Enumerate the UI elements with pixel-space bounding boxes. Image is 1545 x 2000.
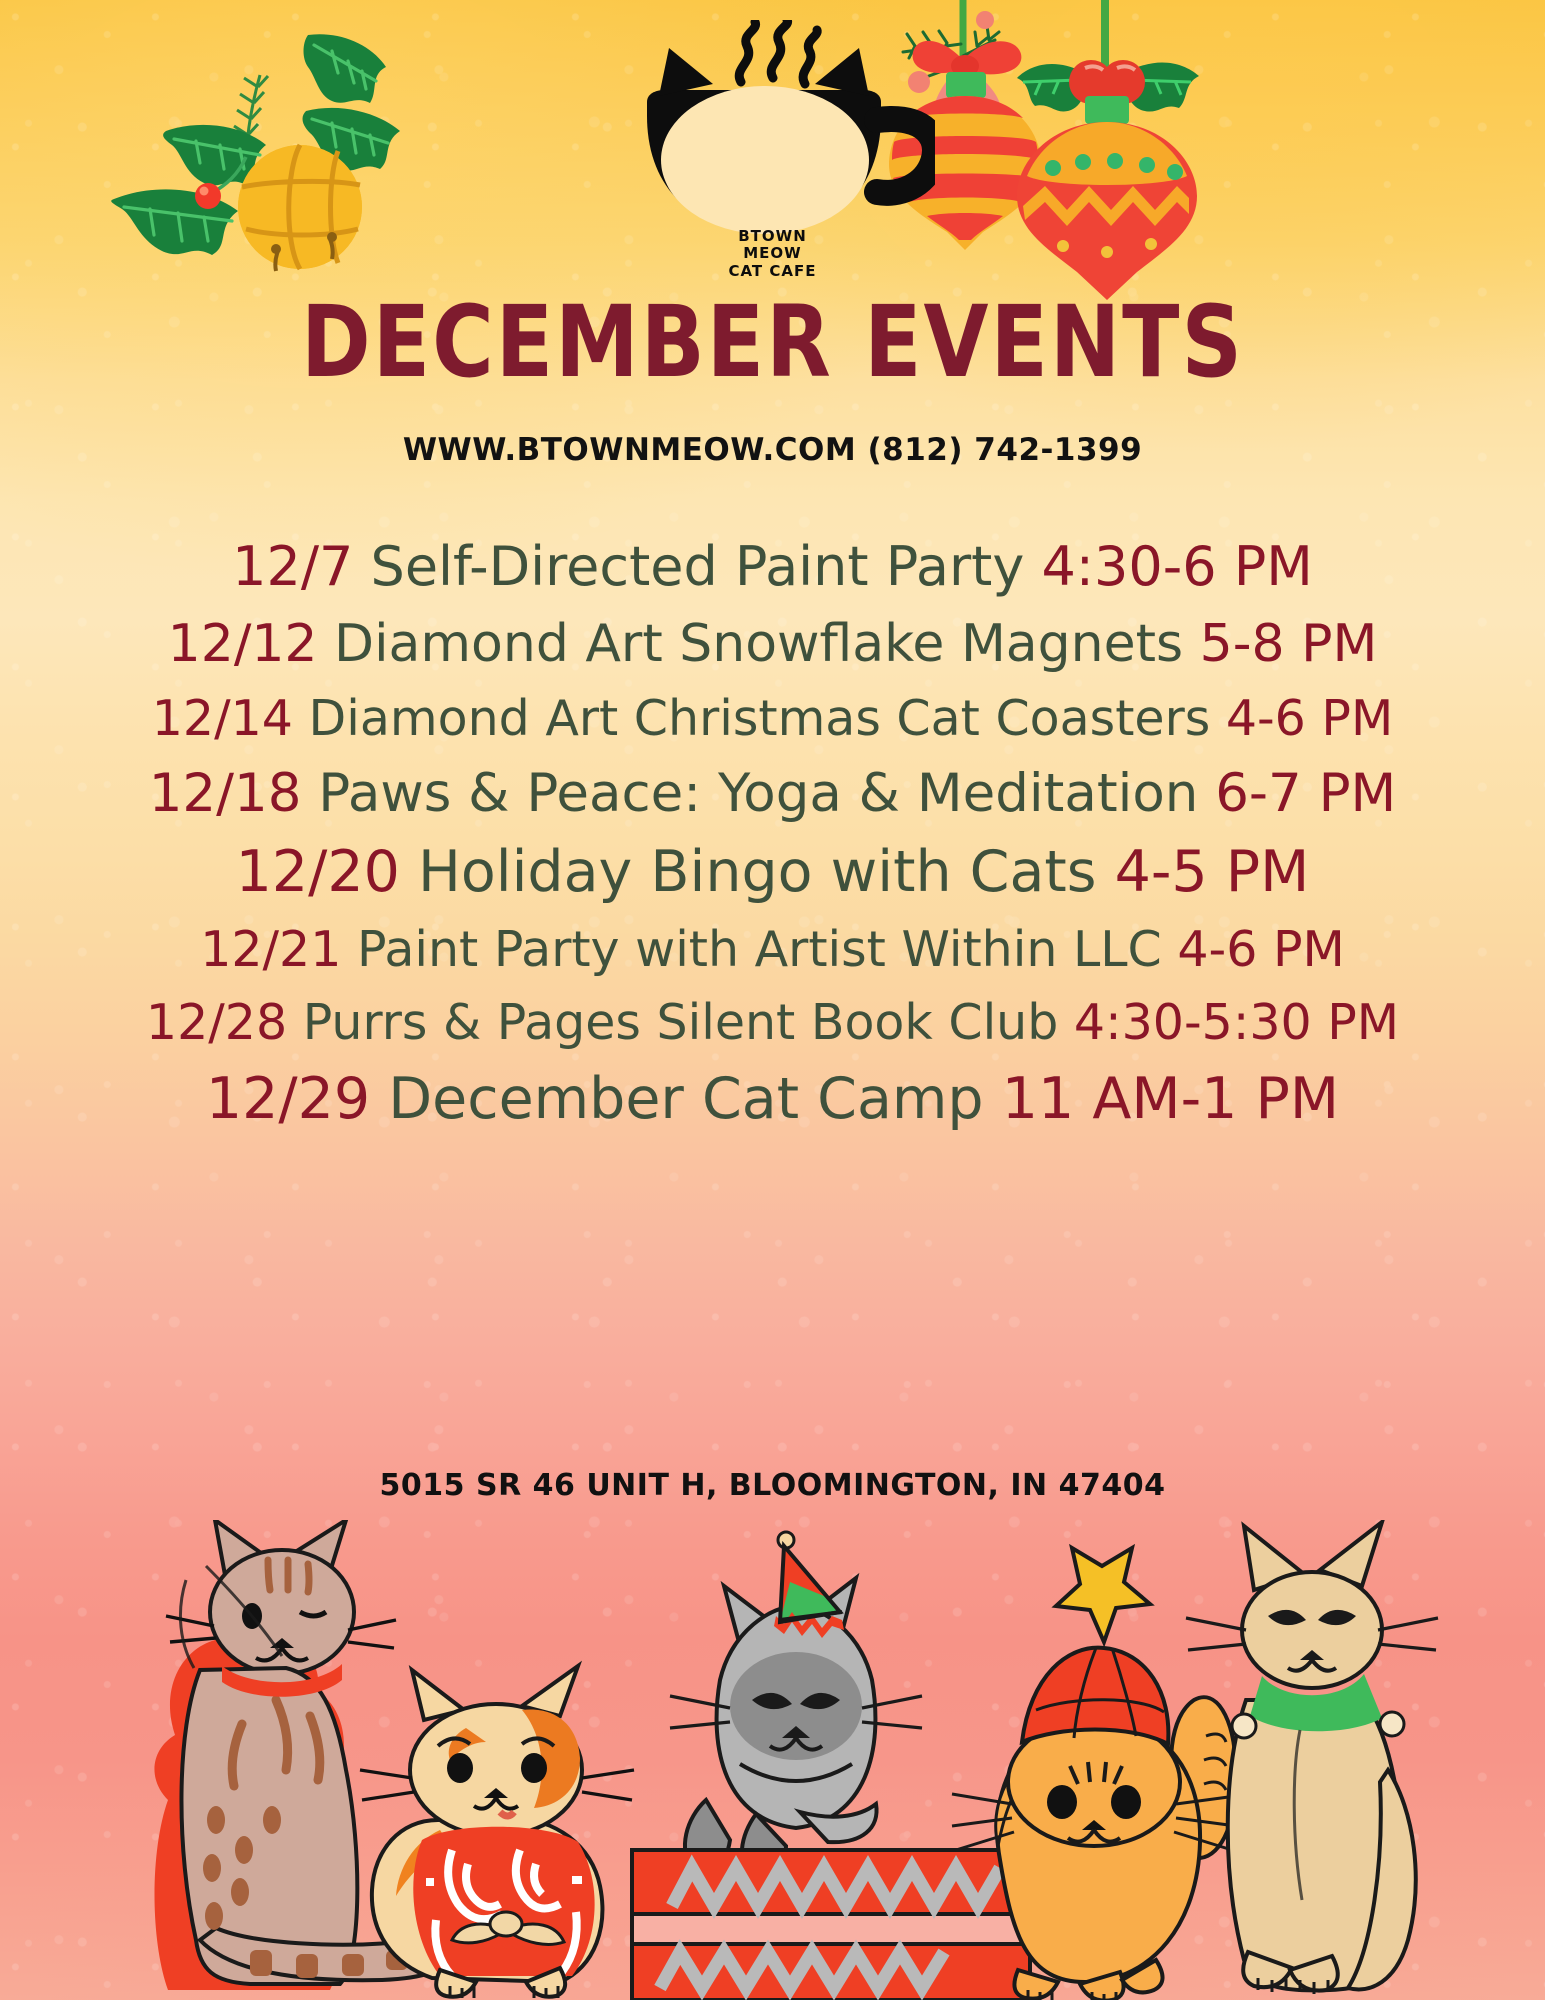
event-row: 12/12 Diamond Art Snowflake Magnets 5-8 …	[30, 618, 1515, 670]
event-name: Diamond Art Christmas Cat Coasters	[293, 690, 1226, 747]
event-date: 12/12	[168, 614, 318, 674]
event-name: Diamond Art Snowflake Magnets	[318, 614, 1200, 674]
event-date: 12/14	[152, 690, 293, 747]
holly-berry-icon	[195, 183, 221, 209]
event-time: 5-8 PM	[1200, 614, 1378, 674]
event-row: 12/7 Self-Directed Paint Party 4:30-6 PM	[30, 540, 1515, 594]
event-row: 12/28 Purrs & Pages Silent Book Club 4:3…	[30, 998, 1515, 1047]
page-title: DECEMBER EVENTS	[0, 292, 1545, 391]
event-row: 12/21 Paint Party with Artist Within LLC…	[30, 925, 1515, 974]
event-row: 12/18 Paws & Peace: Yoga & Meditation 6-…	[30, 767, 1515, 820]
event-name: Self-Directed Paint Party	[353, 535, 1041, 598]
santa-hat-with-star-icon	[1022, 1548, 1168, 1744]
event-row: 12/20 Holiday Bingo with Cats 4-5 PM	[30, 844, 1515, 901]
event-name: December Cat Camp	[370, 1066, 1002, 1132]
logo-line-2: MEOW	[0, 245, 1545, 262]
cat-coffee-cup-icon	[595, 20, 935, 250]
cats-illustration	[0, 1520, 1545, 2000]
event-time: 4:30-5:30 PM	[1074, 994, 1399, 1051]
event-time: 4-5 PM	[1115, 839, 1310, 905]
event-date: 12/29	[206, 1066, 370, 1132]
event-row: 12/14 Diamond Art Christmas Cat Coasters…	[30, 694, 1515, 743]
address-line: 5015 SR 46 UNIT H, BLOOMINGTON, IN 47404	[0, 1468, 1545, 1503]
contact-line: WWW.BTOWNMEOW.COM (812) 742-1399	[0, 432, 1545, 468]
grey-cat-with-elf-hat-on-present	[632, 1532, 1074, 2000]
logo-line-3: CAT CAFE	[0, 263, 1545, 280]
event-name: Purrs & Pages Silent Book Club	[287, 994, 1074, 1051]
event-name: Holiday Bingo with Cats	[400, 839, 1115, 905]
orange-cat-in-red-sweater	[360, 1666, 634, 1998]
brand-logo-text: BTOWN MEOW CAT CAFE	[0, 228, 1545, 280]
event-time: 4-6 PM	[1177, 921, 1344, 978]
event-time: 4-6 PM	[1226, 690, 1393, 747]
poster-canvas: BTOWN MEOW CAT CAFE DECEMBER EVENTS WWW.…	[0, 0, 1545, 2000]
event-name: Paint Party with Artist Within LLC	[341, 921, 1177, 978]
event-time: 4:30-6 PM	[1041, 535, 1312, 598]
event-name: Paws & Peace: Yoga & Meditation	[301, 763, 1215, 824]
elf-hat-icon	[774, 1532, 844, 1638]
event-date: 12/28	[146, 994, 287, 1051]
events-list: 12/7 Self-Directed Paint Party 4:30-6 PM…	[30, 540, 1515, 1152]
event-date: 12/21	[200, 921, 341, 978]
event-date: 12/18	[149, 763, 302, 824]
logo-line-1: BTOWN	[0, 228, 1545, 245]
event-date: 12/20	[236, 839, 400, 905]
event-time: 11 AM-1 PM	[1002, 1066, 1339, 1132]
event-date: 12/7	[232, 535, 353, 598]
event-row: 12/29 December Cat Camp 11 AM-1 PM	[30, 1071, 1515, 1128]
event-time: 6-7 PM	[1215, 763, 1396, 824]
